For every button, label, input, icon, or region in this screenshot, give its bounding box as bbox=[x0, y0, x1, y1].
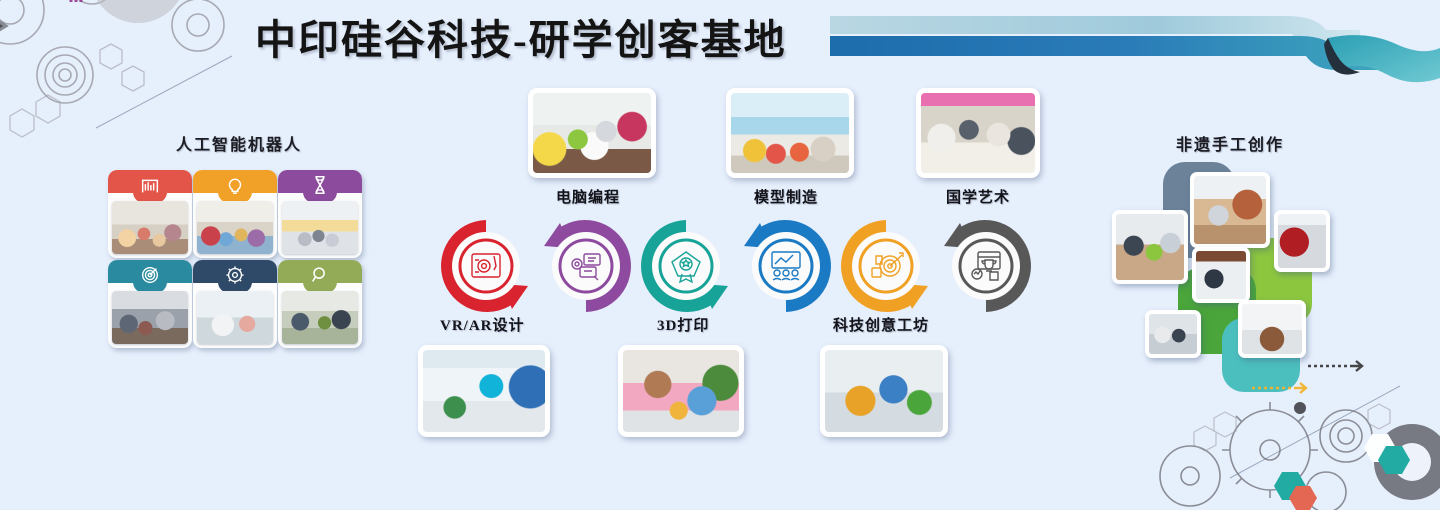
card-magnifier[interactable] bbox=[278, 260, 362, 348]
page-title: 中印硅谷科技-研学创客基地 bbox=[255, 6, 787, 66]
photo-workbench[interactable] bbox=[1192, 247, 1250, 303]
photo-tool-wall[interactable] bbox=[1190, 172, 1270, 248]
label-model-making: 模型制造 bbox=[754, 186, 818, 207]
ring-tech-workshop[interactable] bbox=[832, 212, 940, 320]
photo-model-making[interactable] bbox=[726, 88, 854, 178]
card-hourglass[interactable] bbox=[278, 170, 362, 258]
card-photo bbox=[112, 291, 188, 344]
photo-vr-ar-design[interactable] bbox=[418, 345, 550, 437]
ring-model-making[interactable] bbox=[732, 212, 840, 320]
card-photo bbox=[197, 201, 273, 254]
gear-cluster-top-left bbox=[0, 0, 290, 150]
card-photo bbox=[282, 201, 358, 254]
photo-visitors[interactable] bbox=[1145, 310, 1201, 358]
ribbon-banner bbox=[800, 4, 1440, 88]
label-sinology-art: 国学艺术 bbox=[946, 186, 1010, 207]
poster-canvas: 中印硅谷科技-研学创客基地 人工智能机器人 bbox=[0, 0, 1440, 480]
photo-red-shelf[interactable] bbox=[1274, 210, 1330, 272]
card-gear[interactable] bbox=[193, 260, 277, 348]
card-bar-chart[interactable] bbox=[108, 170, 192, 258]
label-computer-programming: 电脑编程 bbox=[556, 186, 620, 207]
gear-icon bbox=[224, 264, 246, 286]
photo-classroom[interactable] bbox=[1238, 300, 1306, 358]
section-title-heritage-craft: 非遗手工创作 bbox=[1176, 131, 1284, 155]
card-photo bbox=[197, 291, 273, 344]
ring-sinology-art[interactable] bbox=[932, 212, 1040, 320]
section-title-ai-robots: 人工智能机器人 bbox=[176, 131, 302, 155]
magnifier-icon bbox=[309, 264, 331, 286]
target-icon bbox=[139, 264, 161, 286]
ring-vr-ar-design[interactable] bbox=[432, 212, 540, 320]
card-target[interactable] bbox=[108, 260, 192, 348]
ai-robot-card-grid bbox=[108, 170, 376, 348]
photo-craft-class[interactable] bbox=[1112, 210, 1188, 284]
hourglass-icon bbox=[309, 174, 331, 196]
bar-chart-icon bbox=[139, 174, 161, 196]
card-lightbulb[interactable] bbox=[193, 170, 277, 258]
ring-programming[interactable] bbox=[532, 212, 640, 320]
process-ring-row bbox=[432, 212, 1042, 320]
photo-computer-programming[interactable] bbox=[528, 88, 656, 178]
diagonal-line-top-left bbox=[0, 0, 250, 130]
card-photo bbox=[112, 201, 188, 254]
ring-3d-printing[interactable] bbox=[632, 212, 740, 320]
card-photo bbox=[282, 291, 358, 344]
lightbulb-icon bbox=[224, 174, 246, 196]
photo-tech-workshop[interactable] bbox=[820, 345, 948, 437]
photo-3d-printing[interactable] bbox=[618, 345, 744, 437]
photo-sinology-art[interactable] bbox=[916, 88, 1040, 178]
